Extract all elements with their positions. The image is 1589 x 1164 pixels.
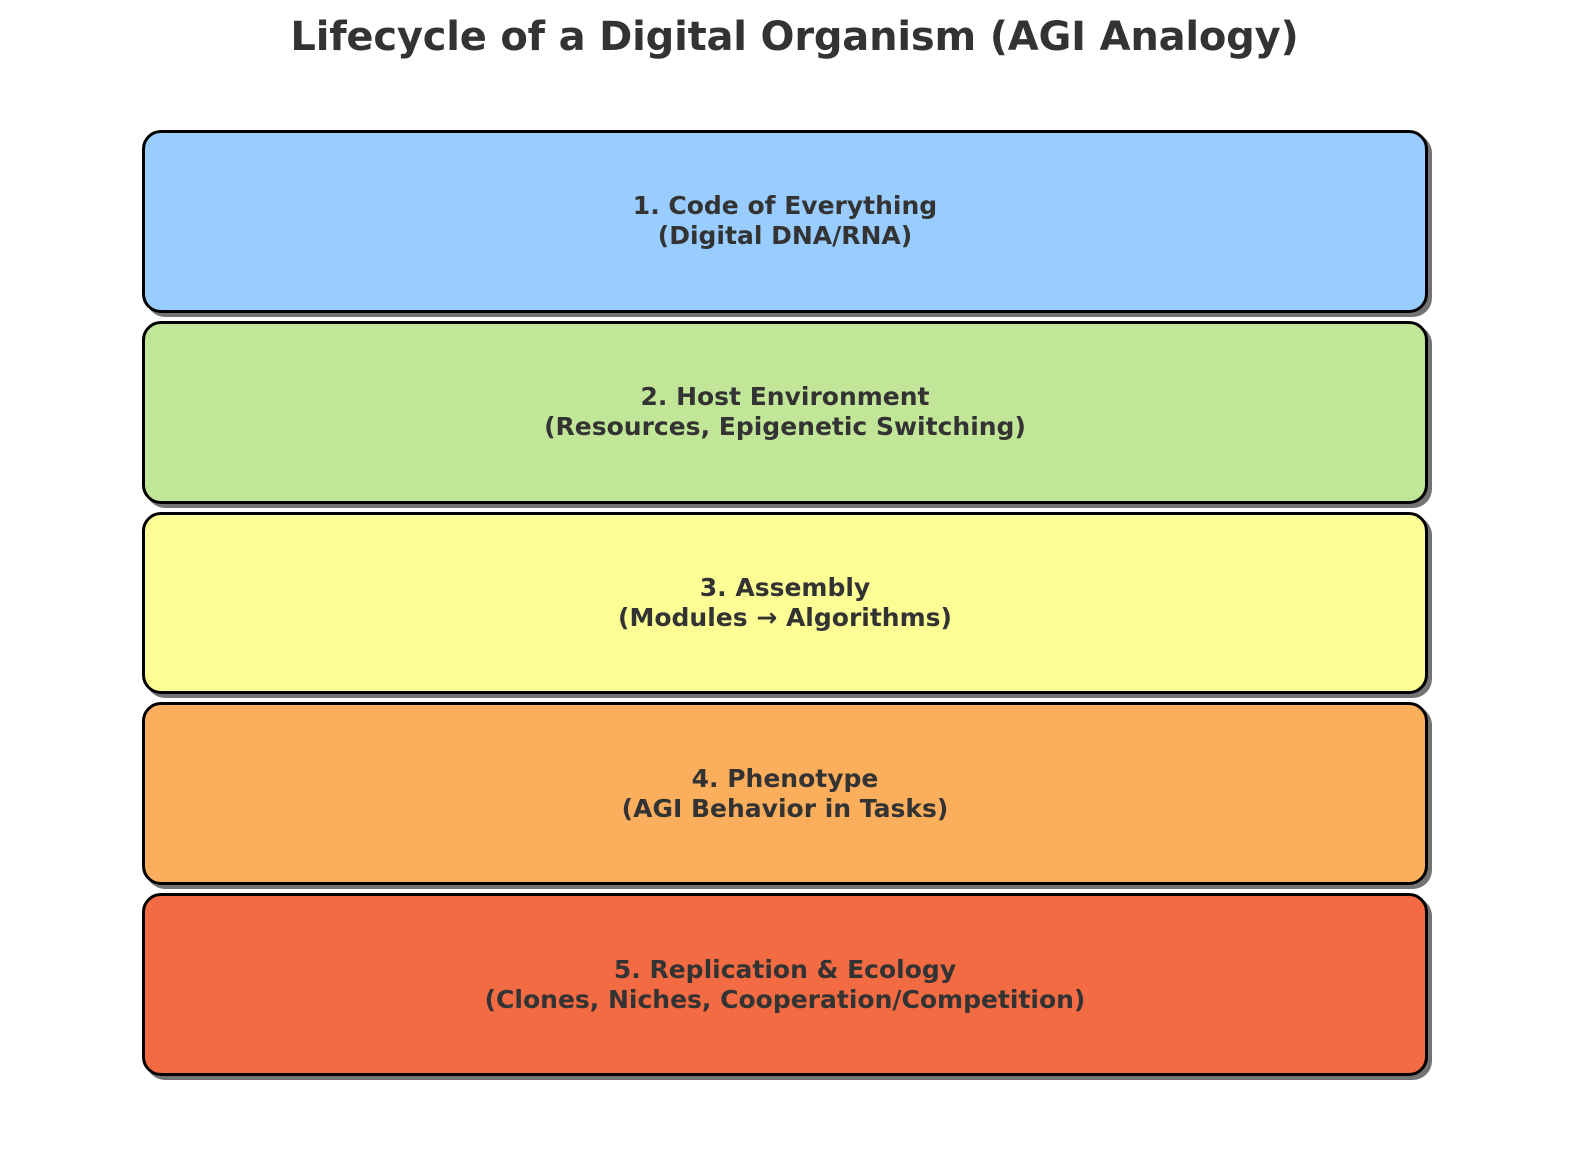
stage-heading: 3. Assembly [700,574,870,602]
stage-heading: 5. Replication & Ecology [614,956,956,984]
stage-detail: (AGI Behavior in Tasks) [622,795,949,823]
lifecycle-stage-stack: 1. Code of Everything (Digital DNA/RNA) … [142,130,1428,1076]
stage-detail: (Clones, Niches, Cooperation/Competition… [485,986,1086,1014]
stage-box-2[interactable]: 2. Host Environment (Resources, Epigenet… [142,321,1428,504]
stage-box-1[interactable]: 1. Code of Everything (Digital DNA/RNA) [142,130,1428,313]
page-title: Lifecycle of a Digital Organism (AGI Ana… [0,14,1589,60]
diagram-canvas: Lifecycle of a Digital Organism (AGI Ana… [0,0,1589,1164]
stage-detail: (Modules → Algorithms) [618,604,952,632]
stage-detail: (Resources, Epigenetic Switching) [544,413,1026,441]
stage-box-4[interactable]: 4. Phenotype (AGI Behavior in Tasks) [142,702,1428,885]
stage-heading: 4. Phenotype [692,765,879,793]
stage-detail: (Digital DNA/RNA) [658,222,912,250]
stage-heading: 1. Code of Everything [633,192,937,220]
stage-box-3[interactable]: 3. Assembly (Modules → Algorithms) [142,512,1428,695]
stage-box-5[interactable]: 5. Replication & Ecology (Clones, Niches… [142,893,1428,1076]
stage-heading: 2. Host Environment [640,383,929,411]
